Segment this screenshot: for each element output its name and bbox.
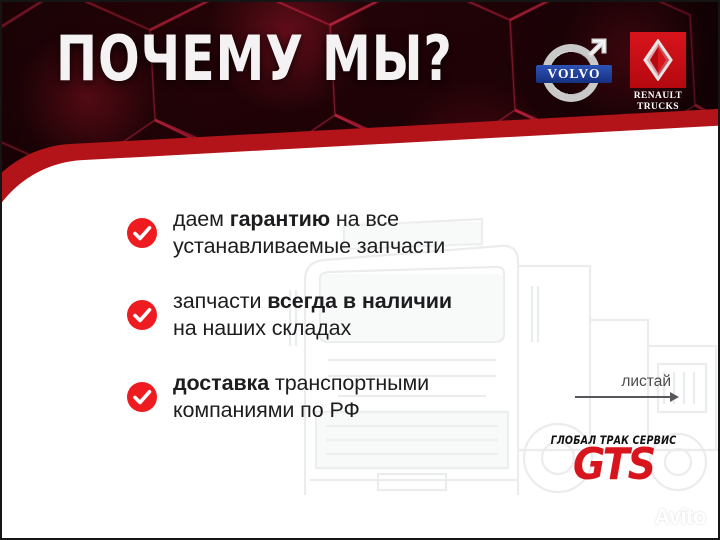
renault-trucks-logo: RENAULT TRUCKS [630, 32, 686, 112]
benefits-list: даем гарантию на все устанавливаемые зап… [126, 206, 546, 452]
renault-wordmark: RENAULT TRUCKS [630, 91, 686, 112]
brand-logo-group: VOLVO RENAULT TRUCKS [536, 32, 686, 112]
text-span: транспортными [269, 371, 429, 395]
volvo-logo: VOLVO [536, 34, 612, 110]
text-span: запчасти [173, 289, 267, 313]
avito-watermark: Avito [629, 504, 706, 530]
text-emphasis: доставка [173, 371, 269, 395]
check-circle-icon [126, 381, 158, 413]
text-span: устанавливаемые запчасти [173, 234, 445, 258]
check-circle-icon [126, 299, 158, 331]
list-item: запчасти всегда в наличии на наших склад… [126, 288, 546, 342]
text-span: даем [173, 207, 230, 231]
list-item-line1: даем гарантию на все [173, 206, 445, 233]
list-item-line2: на наших складах [173, 315, 452, 342]
list-item-line2: компаниями по РФ [173, 397, 429, 424]
list-item: доставка транспортными компаниями по РФ [126, 370, 546, 424]
list-item-line1: запчасти всегда в наличии [173, 288, 452, 315]
avito-label: Avito [654, 504, 706, 530]
renault-wordmark-line2: TRUCKS [630, 102, 686, 113]
avito-dots-icon [629, 507, 649, 527]
list-item: даем гарантию на все устанавливаемые зап… [126, 206, 546, 260]
advertisement-slide: ПОЧЕМУ МЫ? VOLVO [0, 0, 720, 540]
renault-diamond-plate [630, 32, 686, 88]
text-span: на наших складах [173, 316, 351, 340]
company-tagline: ГЛОБАЛ ТРАК СЕРВИС [547, 433, 680, 447]
renault-wordmark-line1: RENAULT [630, 91, 686, 102]
check-circle-icon [126, 217, 158, 249]
volvo-arrow-icon [583, 36, 609, 62]
list-item-text: запчасти всегда в наличии на наших склад… [173, 288, 452, 342]
company-logo: ГЛОБАЛ ТРАК СЕРВИС GTS [541, 433, 686, 485]
list-item-text: доставка транспортными компаниями по РФ [173, 370, 429, 424]
text-span: на все [330, 207, 399, 231]
company-abbr: GTS [541, 445, 686, 485]
list-item-text: даем гарантию на все устанавливаемые зап… [173, 206, 445, 260]
swipe-hint: листай [575, 374, 685, 403]
text-emphasis: всегда в наличии [267, 289, 452, 313]
text-span: компаниями по РФ [173, 398, 360, 422]
page-title: ПОЧЕМУ МЫ? [56, 28, 453, 90]
list-item-line2: устанавливаемые запчасти [173, 233, 445, 260]
text-emphasis: гарантию [230, 207, 330, 231]
volvo-wordmark: VOLVO [547, 66, 600, 82]
volvo-wordmark-bar: VOLVO [536, 65, 612, 83]
list-item-line1: доставка транспортными [173, 370, 429, 397]
arrow-right-icon [575, 391, 679, 403]
swipe-label: листай [575, 374, 685, 390]
renault-diamond-icon [641, 39, 675, 81]
